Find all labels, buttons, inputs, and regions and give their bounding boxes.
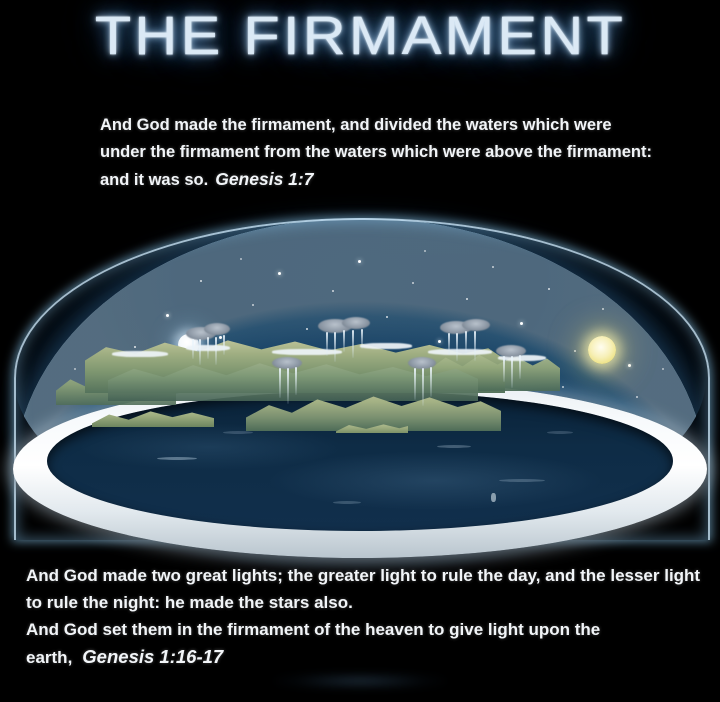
star bbox=[602, 308, 604, 310]
rain-streak bbox=[422, 368, 424, 406]
rain-streak bbox=[207, 337, 209, 359]
rain-streak bbox=[352, 330, 354, 358]
rain-streak bbox=[199, 339, 201, 365]
star bbox=[358, 260, 361, 263]
rain-streak bbox=[474, 331, 476, 361]
top-scripture-text: And God made the firmament, and divided … bbox=[100, 116, 652, 189]
star bbox=[166, 314, 169, 317]
flat-earth-illustration bbox=[0, 205, 720, 565]
rain-streak bbox=[279, 368, 281, 398]
firmament-poster: THE FIRMAMENT And God made the firmament… bbox=[0, 0, 720, 702]
snow-cap bbox=[360, 343, 412, 349]
rain-streak bbox=[192, 339, 194, 359]
snow-cap bbox=[428, 349, 492, 355]
rain-streak bbox=[287, 368, 289, 404]
star bbox=[628, 364, 631, 367]
rain-streak bbox=[511, 356, 513, 388]
rain-streak bbox=[343, 330, 345, 352]
wave bbox=[547, 431, 573, 434]
rain-streak bbox=[334, 332, 336, 362]
star bbox=[574, 350, 576, 352]
wave bbox=[333, 501, 361, 504]
star bbox=[386, 316, 388, 318]
star bbox=[520, 322, 523, 325]
rain-streak bbox=[448, 333, 450, 355]
star bbox=[134, 346, 136, 348]
star bbox=[306, 328, 308, 330]
star bbox=[438, 340, 441, 343]
bottom-scripture-block: And God made two great lights; the great… bbox=[26, 562, 716, 671]
star bbox=[492, 266, 494, 268]
star bbox=[200, 280, 202, 282]
rain-streak bbox=[326, 332, 328, 356]
bottom-haze bbox=[275, 672, 445, 690]
bottom-scripture-line-1: And God made two great lights; the great… bbox=[26, 566, 700, 612]
rain-streak bbox=[503, 356, 505, 382]
rain-streak bbox=[465, 331, 467, 355]
star bbox=[662, 368, 664, 370]
ocean-speck bbox=[491, 493, 496, 502]
star bbox=[424, 250, 426, 252]
star bbox=[562, 386, 564, 388]
rain-streak bbox=[456, 333, 458, 361]
rain-streak bbox=[519, 355, 521, 379]
star bbox=[74, 368, 76, 370]
star bbox=[548, 288, 550, 290]
rain-streak bbox=[215, 337, 217, 365]
cloud bbox=[342, 317, 370, 329]
star bbox=[219, 336, 222, 339]
wave bbox=[157, 457, 197, 460]
rain-streak bbox=[295, 367, 297, 395]
star bbox=[240, 258, 242, 260]
rain-streak bbox=[414, 368, 416, 400]
star bbox=[466, 298, 468, 300]
sun bbox=[588, 336, 616, 364]
snow-cap bbox=[272, 349, 342, 355]
cloud bbox=[462, 319, 490, 331]
star bbox=[252, 304, 254, 306]
top-scripture-reference: Genesis 1:7 bbox=[208, 169, 313, 189]
rain-streak bbox=[430, 367, 432, 397]
rain-streak bbox=[223, 335, 225, 355]
snow-cap bbox=[112, 351, 168, 357]
page-title: THE FIRMAMENT bbox=[94, 4, 625, 68]
star bbox=[412, 282, 414, 284]
wave bbox=[223, 431, 253, 434]
star bbox=[278, 272, 281, 275]
wave bbox=[437, 445, 471, 448]
rain-streak bbox=[361, 329, 363, 349]
cloud bbox=[204, 323, 230, 335]
star bbox=[332, 290, 334, 292]
top-scripture-block: And God made the firmament, and divided … bbox=[100, 112, 660, 194]
wave bbox=[499, 479, 545, 482]
bottom-scripture-reference: Genesis 1:16-17 bbox=[72, 646, 223, 667]
page-title-container: THE FIRMAMENT bbox=[0, 4, 720, 68]
